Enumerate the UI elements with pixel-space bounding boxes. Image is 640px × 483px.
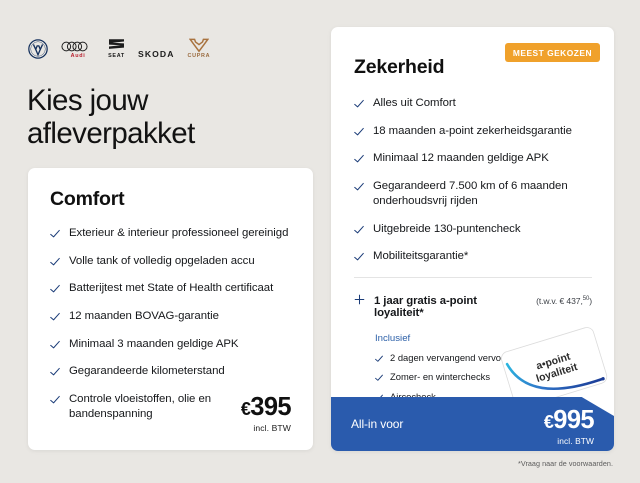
list-item-label: Mobiliteitsgarantie* (373, 249, 592, 264)
inclusief-label: Inclusief (375, 333, 592, 344)
list-item-label: Zomer- en winterchecks (390, 371, 490, 383)
check-icon (375, 373, 383, 381)
list-item: Exterieur & interieur professioneel gere… (50, 226, 291, 241)
corner-fold (580, 397, 614, 416)
loyalty-worth-prefix: (t.w.v. € 437, (536, 296, 583, 306)
comfort-price-amount: 395 (250, 393, 291, 421)
loyalty-addon-label: 1 jaar gratis a-point loyaliteit* (374, 295, 527, 319)
currency-symbol: € (544, 412, 553, 432)
list-item-label: 18 maanden a-point zekerheidsgarantie (373, 124, 592, 139)
audi-logo-caption: Audi (71, 54, 86, 59)
disclaimer-text: *Vraag naar de voorwaarden. (518, 459, 613, 468)
list-item: Zomer- en winterchecks (375, 371, 592, 383)
zekerheid-package-card[interactable]: MEEST GEKOZEN Zekerheid Alles uit Comfor… (331, 27, 614, 451)
list-item: Alles uit Comfort (354, 96, 592, 111)
allin-price-row: All-in voor €995 incl. BTW (351, 408, 594, 446)
brand-logo-strip: Audi SEAT SKODA CUPRA (28, 33, 210, 59)
list-item: Minimaal 12 maanden geldige APK (354, 151, 592, 166)
list-item: Batterijtest met State of Health certifi… (50, 281, 291, 296)
comfort-price-note: incl. BTW (241, 423, 291, 433)
allin-label: All-in voor (351, 408, 403, 431)
check-icon (50, 257, 60, 267)
currency-symbol: € (241, 399, 250, 419)
check-icon (50, 395, 60, 405)
list-item-label: Uitgebreide 130-puntencheck (373, 222, 592, 237)
list-item-label: 12 maanden BOVAG-garantie (69, 309, 291, 324)
divider (351, 451, 551, 452)
check-icon (50, 229, 60, 239)
divider (354, 277, 592, 278)
loyalty-addon-row: 1 jaar gratis a-point loyaliteit* (t.w.v… (354, 291, 592, 319)
list-item: Uitgebreide 130-puntencheck (354, 222, 592, 237)
list-item: Gegarandeerd 7.500 km of 6 maanden onder… (354, 179, 592, 209)
list-item: Volle tank of volledig opgeladen accu (50, 254, 291, 269)
list-item-label: Gegarandeerde kilometerstand (69, 364, 291, 379)
zekerheid-card-body: Zekerheid Alles uit Comfort 18 maanden a… (331, 27, 614, 422)
list-item-label: Minimaal 3 maanden geldige APK (69, 337, 291, 352)
cupra-logo-caption: CUPRA (188, 54, 211, 59)
seat-logo: SEAT (108, 38, 125, 59)
loyalty-worth-suffix: ) (589, 296, 592, 306)
loyalty-addon-value: (t.w.v. € 437,50) (536, 296, 592, 306)
comfort-card-title: Comfort (50, 188, 291, 211)
volkswagen-logo (28, 39, 48, 59)
comfort-price-block: €395 incl. BTW (241, 395, 291, 434)
list-item-label: Batterijtest met State of Health certifi… (69, 281, 291, 296)
check-icon (375, 354, 383, 362)
check-icon (50, 284, 60, 294)
list-item: 12 maanden BOVAG-garantie (50, 309, 291, 324)
list-item-label: Minimaal 12 maanden geldige APK (373, 151, 592, 166)
audi-logo: Audi (61, 40, 95, 59)
promo-page: Audi SEAT SKODA CUPRA Kies jouw afleverp… (0, 0, 640, 483)
zekerheid-feature-list: Alles uit Comfort 18 maanden a-point zek… (354, 96, 592, 265)
check-icon (50, 312, 60, 322)
check-icon (354, 182, 364, 192)
plus-icon (354, 292, 365, 303)
list-item-label: Volle tank of volledig opgeladen accu (69, 254, 291, 269)
check-icon (354, 252, 364, 262)
allin-price-note: incl. BTW (544, 436, 594, 446)
comfort-price: €395 (241, 395, 291, 421)
allin-price-footer: All-in voor €995 incl. BTW (331, 397, 614, 451)
list-item: Gegarandeerde kilometerstand (50, 364, 291, 379)
list-item: Minimaal 3 maanden geldige APK (50, 337, 291, 352)
list-item: 2 dagen vervangend vervoer (375, 352, 592, 364)
skoda-logo: SKODA (138, 49, 175, 59)
status-badge: MEEST GEKOZEN (505, 43, 600, 62)
list-item-label: 2 dagen vervangend vervoer (390, 352, 509, 364)
list-item: 18 maanden a-point zekerheidsgarantie (354, 124, 592, 139)
page-title: Kies jouw afleverpakket (27, 84, 297, 151)
list-item-label: Gegarandeerd 7.500 km of 6 maanden onder… (373, 179, 592, 209)
comfort-package-card[interactable]: Comfort Exterieur & interieur profession… (28, 168, 313, 450)
check-icon (354, 127, 364, 137)
left-column: Audi SEAT SKODA CUPRA Kies jouw afleverp… (0, 0, 320, 483)
check-icon (354, 99, 364, 109)
check-icon (50, 367, 60, 377)
cupra-logo: CUPRA (188, 38, 211, 59)
check-icon (50, 340, 60, 350)
list-item-label: Exterieur & interieur professioneel gere… (69, 226, 291, 241)
seat-logo-caption: SEAT (108, 54, 125, 59)
skoda-logo-caption: SKODA (138, 49, 175, 59)
list-item: Mobiliteitsgarantie* (354, 249, 592, 264)
check-icon (354, 225, 364, 235)
check-icon (354, 154, 364, 164)
list-item-label: Alles uit Comfort (373, 96, 592, 111)
